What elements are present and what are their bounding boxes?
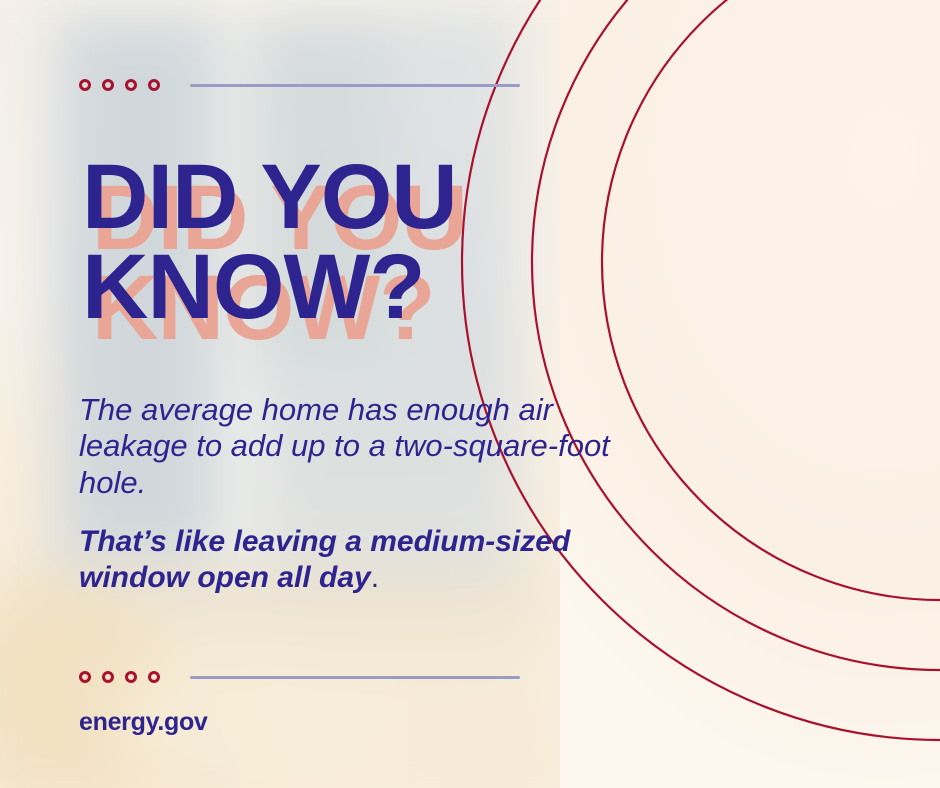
page-title: DID YOU KNOW? [82, 152, 602, 332]
motif-bottom-rule [190, 676, 520, 679]
circle-icon [102, 79, 114, 91]
circle-icon [79, 671, 91, 683]
motif-top [79, 79, 520, 91]
poster-canvas: DID YOU KNOW? The average home has enoug… [0, 0, 940, 788]
emphasis-paragraph-text: That’s like leaving a medium-sized windo… [79, 525, 570, 594]
circle-icon [79, 79, 91, 91]
poster-content: DID YOU KNOW? The average home has enoug… [0, 0, 940, 788]
circle-icon [148, 79, 160, 91]
circle-icon [102, 671, 114, 683]
emphasis-paragraph: That’s like leaving a medium-sized windo… [79, 524, 599, 596]
motif-top-rule [190, 84, 520, 87]
motif-bottom-dots [79, 671, 160, 683]
motif-bottom [79, 671, 520, 683]
body-paragraph: The average home has enough air leakage … [79, 392, 619, 501]
emphasis-paragraph-period: . [371, 561, 379, 594]
circle-icon [148, 671, 160, 683]
motif-top-dots [79, 79, 160, 91]
circle-icon [125, 671, 137, 683]
circle-icon [125, 79, 137, 91]
footer-website-url[interactable]: energy.gov [79, 708, 208, 737]
